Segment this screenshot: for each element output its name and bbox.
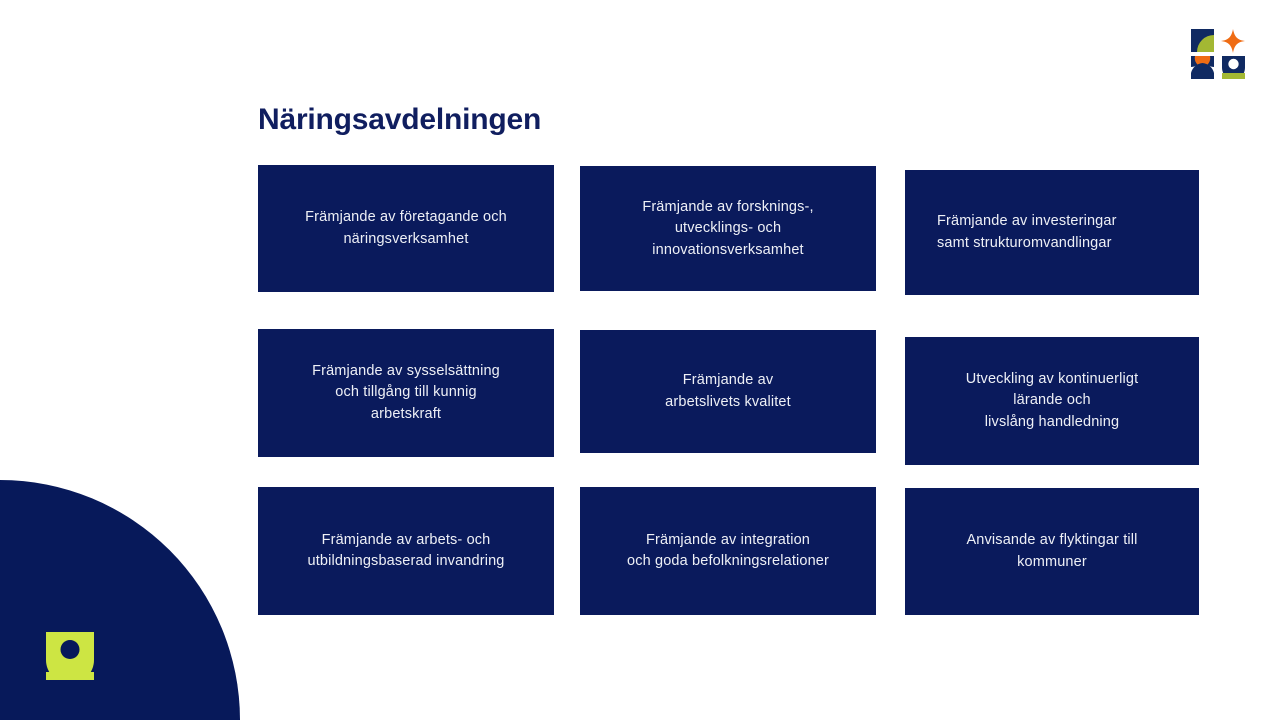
card-text: Främjande av integration och goda befolk… [580,530,876,573]
orange-navy-tulip-icon [1191,56,1214,79]
card-line: näringsverksamhet [343,231,468,247]
card-work-education-immigration[interactable]: Främjande av arbets- och utbildningsbase… [258,487,554,615]
card-integration[interactable]: Främjande av integration och goda befolk… [580,487,876,615]
navy-square-with-green-quarter-icon [1191,29,1214,52]
card-line: lärande och [1013,392,1090,408]
orange-four-point-star-icon [1221,29,1245,53]
card-text: Främjande av forsknings-, utvecklings- o… [580,197,876,261]
page-title: Näringsavdelningen [258,103,541,137]
card-text: Främjande av investeringar samt struktur… [905,211,1199,254]
card-line: Utveckling av kontinuerligt [966,371,1139,387]
card-line: Främjande av forsknings-, [642,199,813,215]
slide-canvas: Näringsavdelningen Främjande av företaga… [0,0,1280,720]
decorative-corner-arc [0,480,240,720]
card-line: samt strukturomvandlingar [937,235,1112,251]
navy-semicircle-with-white-dot-icon [1222,56,1245,79]
card-text: Utveckling av kontinuerligt lärande och … [905,369,1199,433]
card-promotion-rdi[interactable]: Främjande av forsknings-, utvecklings- o… [580,166,876,291]
card-text: Främjande av sysselsättning och tillgång… [258,361,554,425]
card-line: kommuner [1017,554,1087,570]
card-line: utbildningsbaserad invandring [307,553,504,569]
card-refugee-placement[interactable]: Anvisande av flyktingar till kommuner [905,488,1199,615]
card-text: Främjande av företagande och näringsverk… [258,207,554,250]
card-line: Främjande av integration [646,532,810,548]
card-promotion-employment[interactable]: Främjande av sysselsättning och tillgång… [258,329,554,457]
card-line: och goda befolkningsrelationer [627,553,829,569]
card-line: arbetskraft [371,406,441,422]
card-promotion-investments[interactable]: Främjande av investeringar samt struktur… [905,170,1199,295]
lime-seed-mark [44,630,96,682]
card-line: och tillgång till kunnig [335,384,476,400]
card-line: utvecklings- och [675,220,781,236]
card-line: Främjande av sysselsättning [312,363,500,379]
card-text: Främjande av arbetslivets kvalitet [580,370,876,413]
card-promotion-worklife-quality[interactable]: Främjande av arbetslivets kvalitet [580,330,876,453]
card-line: livslång handledning [985,414,1119,430]
card-line: innovationsverksamhet [652,242,803,258]
card-line: Främjande av [683,372,773,388]
ely-keskus-logo [1191,29,1245,79]
card-promotion-entrepreneurship[interactable]: Främjande av företagande och näringsverk… [258,165,554,292]
card-continuous-learning[interactable]: Utveckling av kontinuerligt lärande och … [905,337,1199,465]
card-line: Främjande av arbets- och [322,532,491,548]
card-text: Främjande av arbets- och utbildningsbase… [258,530,554,573]
card-line: arbetslivets kvalitet [665,394,791,410]
card-text: Anvisande av flyktingar till kommuner [905,530,1199,573]
card-line: Anvisande av flyktingar till [966,532,1137,548]
card-line: Främjande av investeringar [937,213,1117,229]
card-line: Främjande av företagande och [305,209,507,225]
